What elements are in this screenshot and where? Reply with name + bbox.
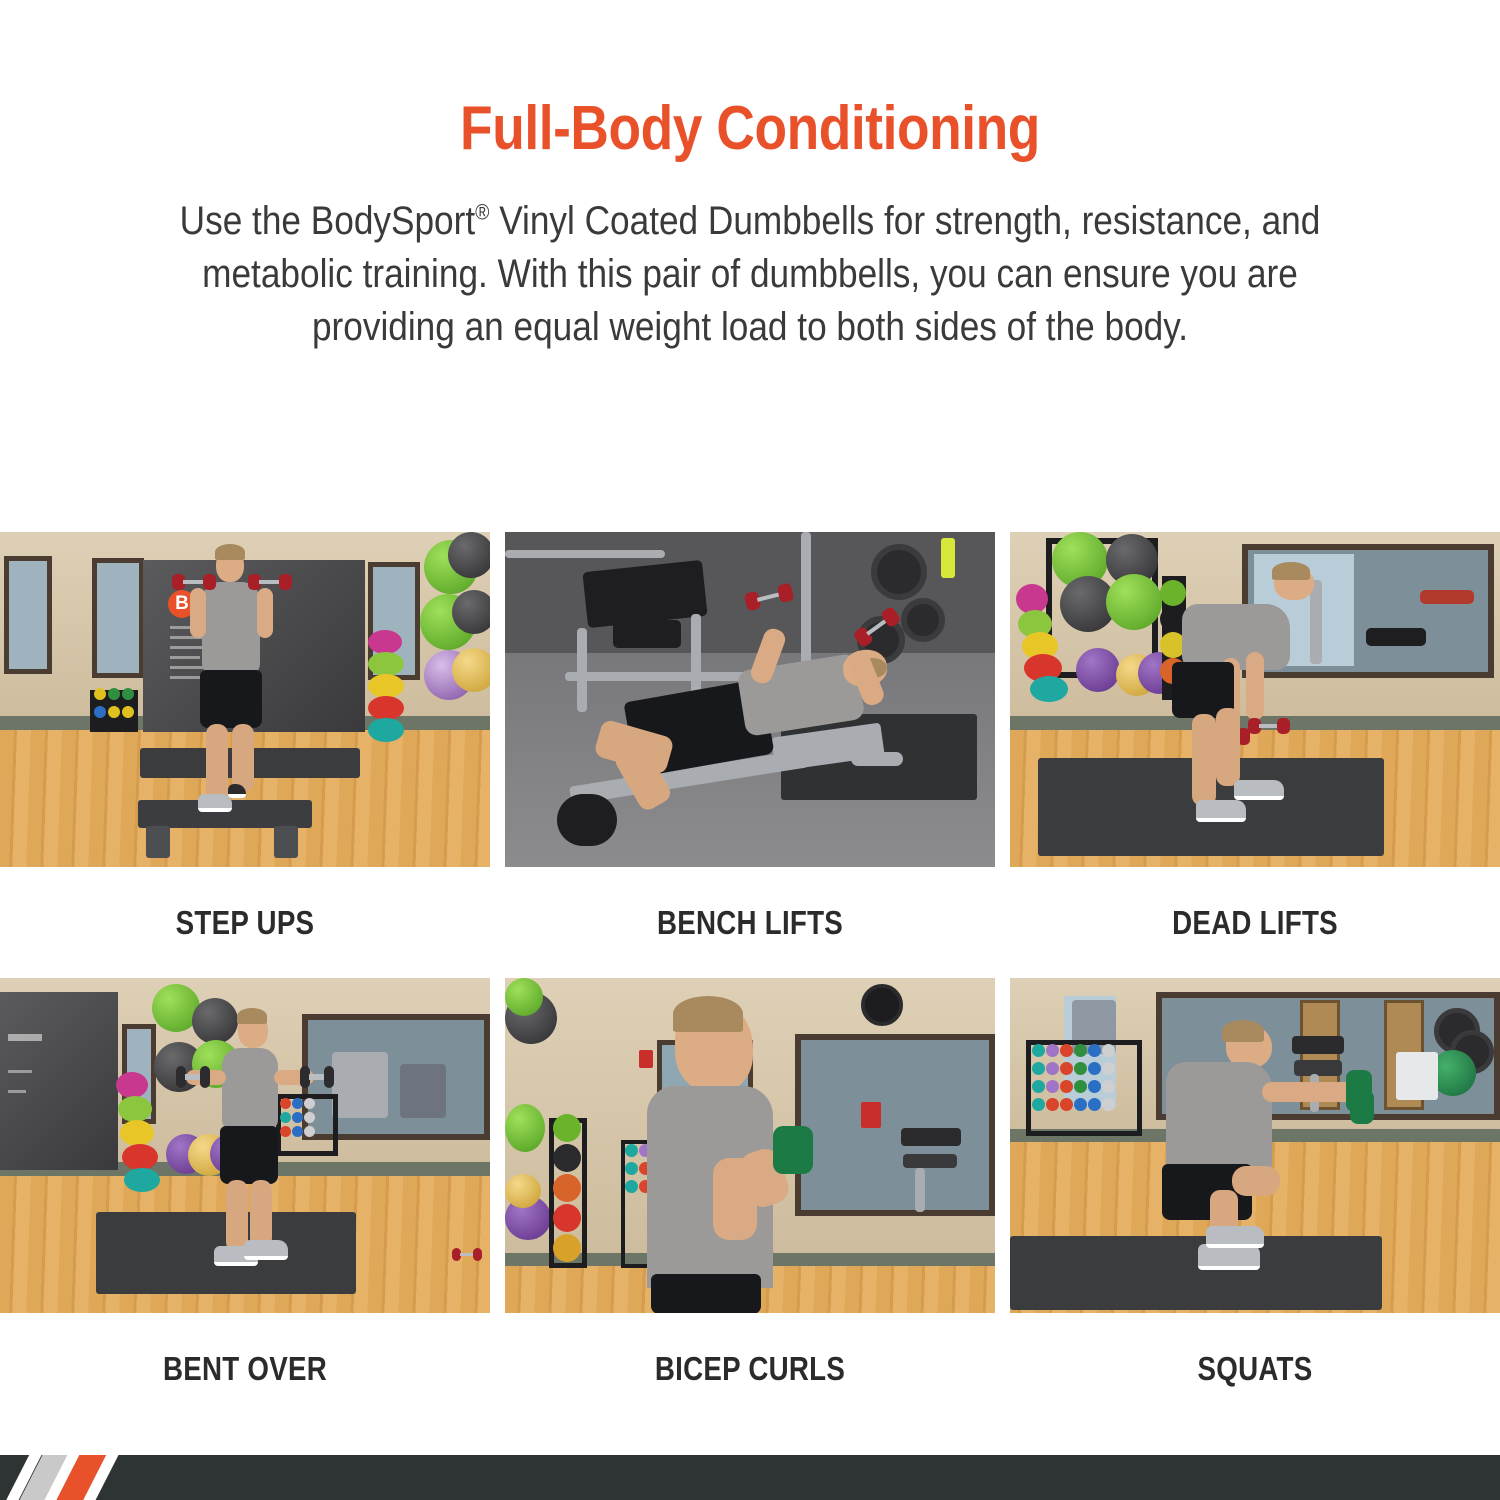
exercise-card-dead-lifts: DEAD LIFTS [1010, 532, 1500, 978]
caption-step-ups: STEP UPS [39, 867, 451, 978]
exercise-card-step-ups: B [0, 532, 490, 978]
caption-dead-lifts: DEAD LIFTS [1049, 867, 1461, 978]
subtitle-text-1: Use the BodySport [180, 199, 475, 243]
exercise-grid: B [0, 532, 1500, 1424]
caption-squats: SQUATS [1049, 1313, 1461, 1424]
page-subtitle: Use the BodySport® Vinyl Coated Dumbbell… [178, 195, 1322, 355]
dumbbell-red [172, 574, 216, 590]
exercise-card-bent-over: BENT OVER [0, 978, 490, 1424]
registered-mark: ® [475, 200, 489, 225]
bench-lifts-photo [505, 532, 995, 867]
dumbbell-green [773, 1126, 813, 1174]
dumbbell-green [1350, 1090, 1374, 1124]
dumbbell-red [452, 1248, 482, 1261]
step-ups-photo: B [0, 532, 490, 867]
dead-lifts-photo [1010, 532, 1500, 867]
dumbbell-red [1248, 718, 1290, 734]
exercise-card-bench-lifts: BENCH LIFTS [505, 532, 995, 978]
dumbbell-red [248, 574, 292, 590]
dumbbell-black [176, 1066, 210, 1088]
bicep-curls-photo [505, 978, 995, 1313]
bent-over-photo [0, 978, 490, 1313]
exercise-card-bicep-curls: BICEP CURLS [505, 978, 995, 1424]
exercise-card-squats: SQUATS [1010, 978, 1500, 1424]
caption-bent-over: BENT OVER [39, 1313, 451, 1424]
caption-bicep-curls: BICEP CURLS [544, 1313, 956, 1424]
dumbbell-black [300, 1066, 334, 1088]
caption-bench-lifts: BENCH LIFTS [544, 867, 956, 978]
footer-bar [0, 1455, 1500, 1500]
page-title: Full-Body Conditioning [105, 96, 1395, 161]
squats-photo [1010, 978, 1500, 1313]
header: Full-Body Conditioning Use the BodySport… [0, 0, 1500, 355]
